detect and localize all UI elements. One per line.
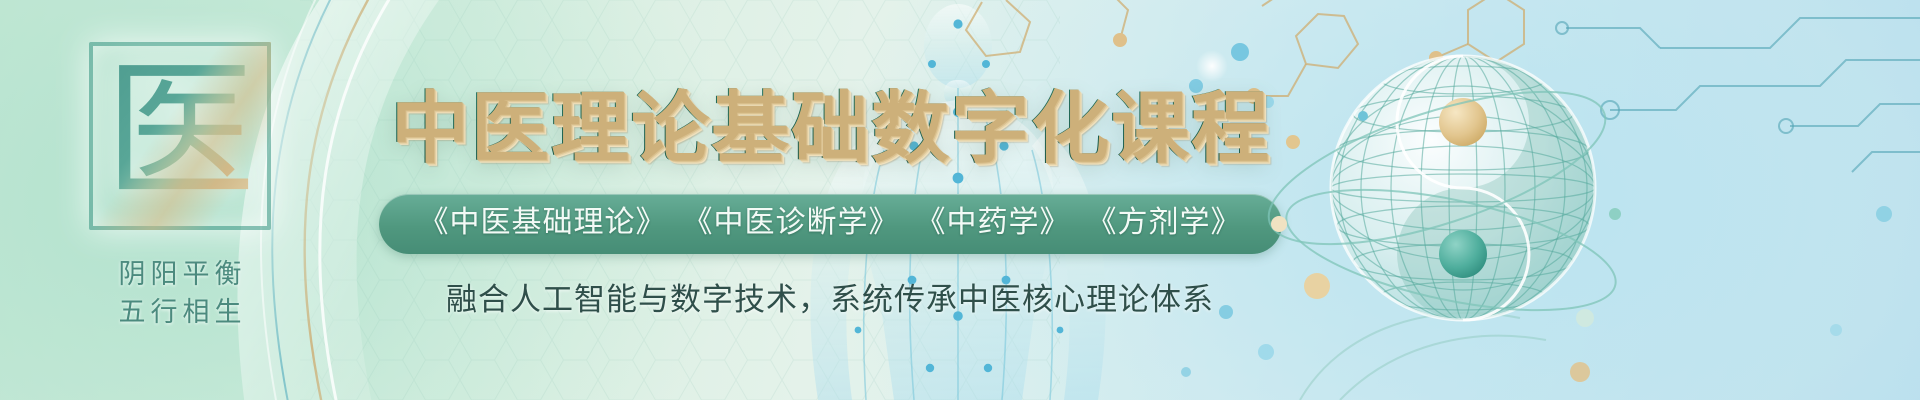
- main-title-text: 中医理论基础数字化课程: [390, 84, 1270, 174]
- course-item-3: 《中药学》: [916, 205, 1071, 240]
- emblem-frame: 医: [89, 42, 271, 230]
- main-title: 中医理论基础数字化课程: [390, 90, 1270, 168]
- tagline: 融合人工智能与数字技术，系统传承中医核心理论体系: [446, 280, 1214, 320]
- emblem-subtitle-line-2: 五行相生: [114, 294, 247, 332]
- yin-yang-sphere: [1255, 18, 1655, 388]
- emblem-subtitle-line-1: 阴阳平衡: [114, 256, 247, 294]
- course-item-1: 《中医基础理论》: [419, 205, 667, 240]
- yang-dot: [1439, 98, 1487, 146]
- center-content: 中医理论基础数字化课程 《中医基础理论》《中医诊断学》《中药学》《方剂学》 融合…: [330, 0, 1330, 400]
- course-item-2: 《中医诊断学》: [683, 205, 900, 240]
- yin-dot: [1439, 230, 1487, 278]
- course-item-4: 《方剂学》: [1087, 205, 1242, 240]
- emblem-character: 医: [105, 57, 255, 207]
- tcm-course-banner: 医 阴阳平衡 五行相生 中医理论基础数字化课程 《中医基础理论》《中医诊断学》《…: [0, 0, 1920, 400]
- emblem-subtitle: 阴阳平衡 五行相生: [114, 256, 247, 333]
- emblem: 医 阴阳平衡 五行相生: [55, 42, 305, 362]
- courses-pill: 《中医基础理论》《中医诊断学》《中药学》《方剂学》: [379, 194, 1282, 255]
